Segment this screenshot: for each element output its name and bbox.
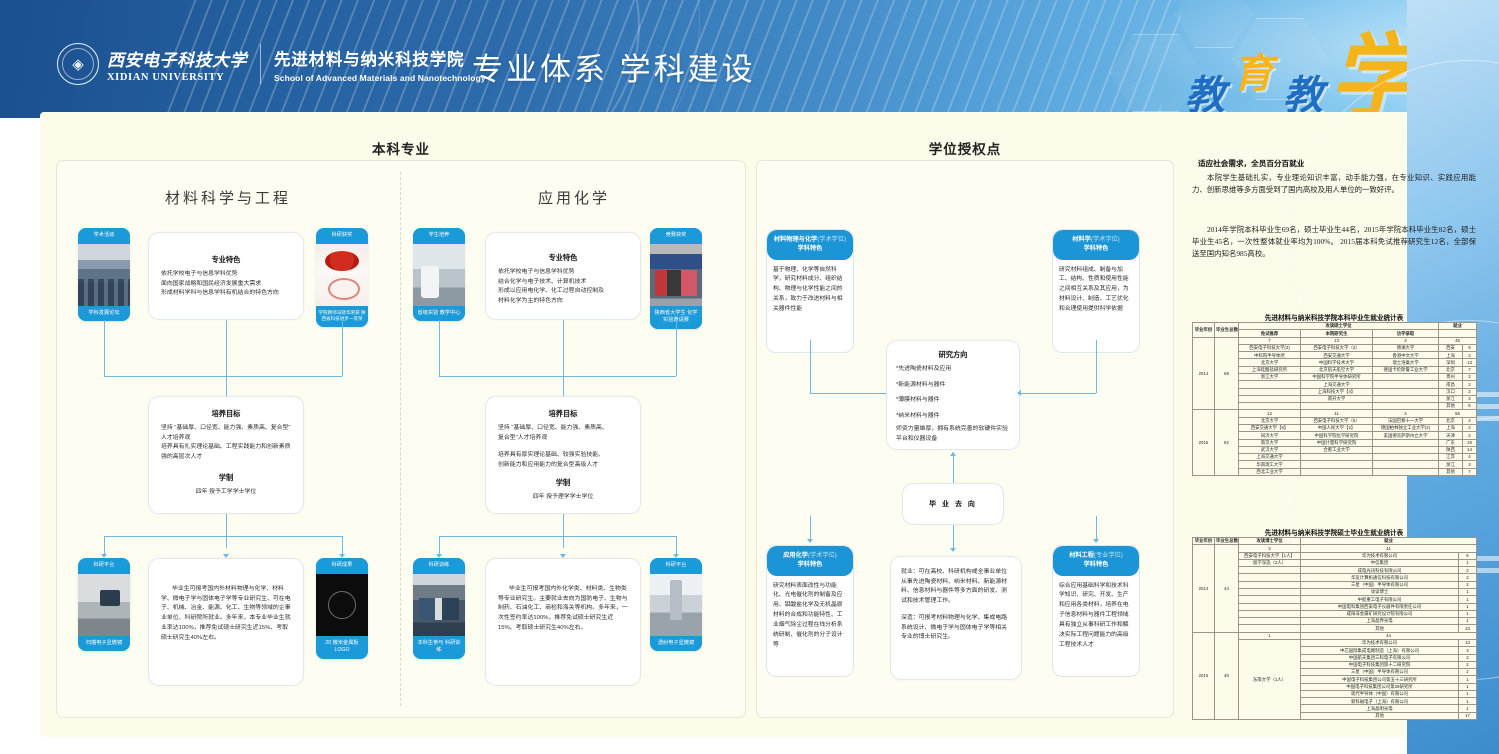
goal-line-2: 复合型"人才培养观 [498,434,628,444]
discipline-card-header: 材料工程(专业学位) 学科特色 [1053,546,1139,576]
cell-count: 55 [1439,410,1477,417]
connector-line [439,320,440,376]
cell: 2 [1463,381,1477,388]
cell: 中国电子科技集团公司第五十三研究所 [1301,676,1459,683]
cell-count: 3 [1239,545,1301,552]
feature-line-2: 面向国家战略和国民经济发展重大需求 [161,280,291,290]
cell: 中国电子科技集团公司第28研究所 [1301,683,1459,690]
sidebar-paragraph-1: 本院学生基础扎实，专业理论知识丰富，动手能力强，在专业知识、实践应用能力、创新思… [1192,172,1476,196]
cell: 新科磁电子（上海）有限公司 [1301,698,1459,705]
brand-lockup: ◈ 西安电子科技大学 XIDIAN UNIVERSITY 先进材料与纳米科技学院… [57,43,486,85]
destination-para-1: 就业：可在高校、科研机构或全事业单位从事先进陶瓷材料、纳米材料、新能源材料、信息… [901,568,1011,607]
cell: 2 [1459,574,1477,581]
cell [1239,567,1301,574]
cell: 2 [1459,654,1477,661]
goal-box-materials-science: 培养目标 坚持 "基础厚、口径宽、能力强、素质高、复合型" 人才培养观 培养具有… [148,396,304,514]
photo-card-bottom-label: 学科发展论坛 [78,306,130,322]
system-heading: 学制 [161,473,291,483]
cell: 其他 [1439,468,1463,475]
goal-line-2: 人才培养观 [161,434,291,444]
cell-count: 7 [1239,337,1301,344]
cell-count: 44 [1301,632,1477,639]
cell: 7 [1463,366,1477,373]
discipline-card-body: 综合应用基础科学和技术科学知识、研究、开发、生产和应用各类材料，培养在电子信息材… [1053,576,1139,676]
cell: 香港中文大学 [1373,352,1439,359]
discipline-card-body: 基于物理、化学等自然科学，研究材料成分、组织结构、物理与化学性能之间的关系，致力… [767,260,853,352]
cell: 深圳 [1439,359,1463,366]
photo-image-training [413,574,465,636]
connector-line [439,536,440,556]
table-row: 201469713445 [1193,337,1477,344]
cell: 上海硅酸盐研究所 [1239,366,1301,373]
discipline-title-sub: (专业学位) [1094,552,1123,559]
cell [1239,596,1301,603]
cell: 上海晶明光电 [1301,705,1459,712]
cell: 1 [1459,690,1477,697]
cell: 4 [1463,454,1477,461]
photo-card-top-label: 科研成果 [316,558,368,574]
discipline-card-materials-engineering[interactable]: 材料工程(专业学位) 学科特色 综合应用基础科学和技术科学知识、研究、开发、生产… [1052,545,1140,677]
cell [1239,381,1301,388]
connector-arrow-up [950,452,956,456]
th-sub: 免试推荐 [1239,330,1301,337]
cell [1239,625,1301,632]
feature-box-materials-science: 专业特色 依托学校电子与信息学科优势 面向国家战略和国民经济发展重大需求 形成材… [148,232,304,320]
cell [1373,373,1439,380]
cell-total: 44 [1215,545,1239,632]
cell: 广东 [1439,439,1463,446]
discipline-card-material-physics-chemistry[interactable]: 材料物理与化学(学术学位) 学科特色 基于物理、化学等自然科学，研究材料成分、组… [766,229,854,353]
university-seal-icon: ◈ [57,43,99,85]
graduate-destination-heading: 毕 业 去 向 [929,499,977,509]
cell: 13 [1459,639,1477,646]
research-item-1: *先进陶瓷材料及应用 [896,365,1010,375]
cell: 西安交通大学 [1301,352,1373,359]
master-employment-table: 毕业年份毕业生总数攻读博士学位就业201444341西安电子科技大学【1人】华为… [1192,537,1477,720]
cell-count: 11 [1301,410,1373,417]
cell-doctorate: 东南大学（1人） [1239,639,1301,719]
cell: 1 [1459,683,1477,690]
photo-card-bottom-label: 本科生参与 科研训练 [413,636,465,659]
cell-year: 2015 [1193,632,1215,719]
poster-root: ◈ 西安电子科技大学 XIDIAN UNIVERSITY 先进材料与纳米科技学院… [0,0,1499,754]
connector-line [342,320,343,376]
cell: 上海 [1439,352,1463,359]
cell: 上海交通大学 [1239,454,1301,461]
cell: 2 [1463,432,1477,439]
university-name-cn: 西安电子科技大学 [107,46,247,71]
discipline-title-main: 材料学 [1072,236,1091,243]
photo-card-top-label: 科研训练 [413,558,465,574]
th-sub: 访学录取 [1373,330,1439,337]
goal-line-3 [498,443,628,451]
discipline-title-line2: 学科特色 [771,244,849,253]
cell-total: 69 [1215,337,1239,410]
discipline-card-header: 材料物理与化学(学术学位) 学科特色 [767,230,853,260]
goal-heading: 培养目标 [498,409,628,419]
feature-box-applied-chemistry: 专业特色 依托学校电子与信息学科优势 结合化学与电子技术、计算机技术 形成以应用… [485,232,641,320]
goal-heading: 培养目标 [161,409,291,419]
connector-line [563,514,564,548]
cell: 3 [1459,647,1477,654]
discipline-title-sub: (学术学位) [808,552,837,559]
discipline-card-body: 研究材料表面改性与功能化、光电催化剂的制备及应用、钼酸盐化学及无机晶原材料的合成… [767,576,853,676]
discipline-title-line2: 学科特色 [1057,560,1135,569]
th-employment: 就业 [1439,323,1477,330]
photo-card-academic-activity[interactable]: 学术活动 学科发展论坛 [78,228,130,321]
employment-text: 毕业生可报考国内外化学类、材料类、生物类等专业研究生。主要就业去向为国防电子、生… [498,585,628,634]
cell: 2 [1463,388,1477,395]
page-header: ◈ 西安电子科技大学 XIDIAN UNIVERSITY 先进材料与纳米科技学院… [0,0,1499,118]
university-name-block: 西安电子科技大学 XIDIAN UNIVERSITY [107,46,247,83]
feature-line-1: 依托学校电子与信息学科优势 [161,270,291,280]
cell [1373,403,1439,410]
cell [1301,454,1373,461]
cell: 14 [1463,446,1477,453]
photo-card-top-label: 学术活动 [78,228,130,244]
connector-line [104,376,226,377]
cell: 天津 [1439,432,1463,439]
photo-card-top-label: 科研获奖 [316,228,368,244]
cell: 浙江 [1439,461,1463,468]
th-year: 毕业年份 [1193,538,1215,545]
cell: 19 [1463,439,1477,446]
feature-line-2: 结合化学与电子技术、计算机技术 [498,278,628,288]
cell-count: 4 [1373,410,1439,417]
connector-line [953,452,954,483]
cell: 17 [1459,712,1477,719]
cell: 同济大学 [1239,432,1301,439]
cell: 北京 [1439,417,1463,424]
cell [1373,468,1439,475]
cell: 西安交通大学【6】 [1239,424,1301,431]
discipline-title-sub: (学术学位) [817,236,846,243]
cell: 中船重工电子有限公司 [1301,596,1459,603]
cell: 上海晶界光电 [1301,618,1459,625]
art-char-2: 育 [1233,54,1273,94]
photo-image-certificate [316,244,368,306]
goal-line-1: 坚持 "基础厚、口径宽、能力强、素质高、复合型" [161,424,291,434]
table-row: 2015821211455 [1193,410,1477,417]
cell [1301,468,1373,475]
cell [1239,395,1301,402]
sidebar-heading: 适应社会需求，全员百分百就业 [1198,158,1304,169]
cell: 中国航天集团三科电子有限公司 [1301,654,1459,661]
goal-line-1: 坚持 "基础厚、口径宽、能力强、素质高、 [498,424,628,434]
master-table-title-wrap: 先进材料与纳米科技学院硕士毕业生就业统计表 [1192,527,1476,537]
cell-year: 2015 [1193,410,1215,476]
research-heading: 研究方向 [896,350,1010,360]
cell: 华友计算机通信科技有限公司 [1301,574,1459,581]
th-total: 毕业生总数 [1215,538,1239,545]
cell: 北京航天航空大学 [1301,366,1373,373]
connector-line [563,320,564,398]
feature-line-4: 材料化学为主的特色方向 [498,297,628,307]
cell: 华为技术有限公司 [1301,552,1459,559]
connector-line [439,376,563,377]
cell: 武汉大学 [1239,446,1301,453]
discipline-card-applied-chemistry[interactable]: 应用化学(学术学位) 学科特色 研究材料表面改性与功能化、光电催化剂的制备及应用… [766,545,854,677]
graduate-destination-box: 毕 业 去 向 [902,483,1004,525]
cell: 3 [1463,395,1477,402]
cell: 中国人民大学【2】 [1301,424,1373,431]
connector-line [676,536,677,556]
system-heading: 学制 [498,478,628,488]
photo-card-top-label: 科研平台 [78,558,130,574]
sidebar-paragraph-2: 2014年学院本科毕业生69名，硕士毕业生44名，2015年学院本科毕业生82名… [1192,224,1476,261]
cell: 2 [1463,424,1477,431]
th-total: 毕业生总数 [1215,323,1239,338]
cell: 9 [1463,344,1477,351]
photo-card-research-platform[interactable]: 科研平台 扫描电子显微镜 [78,558,130,651]
cell [1239,603,1301,610]
cell-total: 45 [1215,632,1239,719]
cell: 2 [1459,669,1477,676]
research-note: 师资力量雄厚，拥有系统完善的软硬件实验平台和仪器设备 [896,425,1010,444]
cell: 江苏 [1439,454,1463,461]
discipline-title-main: 材料工程 [1069,552,1094,559]
cell: 合肥工业大学 [1301,446,1373,453]
connector-line [1020,393,1096,394]
cell: 北京大学 [1239,417,1301,424]
cell: 贵州 [1439,373,1463,380]
school-name-en: School of Advanced Materials and Nanotec… [274,73,486,83]
cell: 上海交通大学 [1301,381,1373,388]
table-row: 201545144 [1193,632,1477,639]
cell-count: 1 [1239,632,1301,639]
cell [1373,381,1439,388]
discipline-title-line2: 学科特色 [771,560,849,569]
goal-line-4: 强的高层次人才 [161,453,291,463]
cell: 现代半导体（中国）有限公司 [1301,690,1459,697]
cell-count: 4 [1373,337,1439,344]
connector-line [226,514,227,548]
cell: 其他 [1439,403,1463,410]
cell: 4 [1463,417,1477,424]
cell: 中信集团 [1301,559,1459,566]
goal-line-3: 培养具有扎实理论基础、工程实践能力和创新素质 [161,443,291,453]
university-name-en: XIDIAN UNIVERSITY [107,72,247,83]
cell: 西安电子科技大学（6） [1301,417,1373,424]
cell: 1 [1459,610,1477,617]
photo-image-sem [78,574,130,636]
cell: 中国科学院化学研究院 [1301,432,1373,439]
connector-arrow-down [1093,539,1099,543]
cell: 中科院半导体所 [1239,352,1301,359]
cell [1301,461,1373,468]
cell: 3 [1463,461,1477,468]
discipline-card-body: 研究材料组成、制备与加工、结构、性质和使用性能之间相互关系及其应用，为材料设计、… [1053,260,1139,352]
employment-text: 毕业生可报考国内外材料物理与化学、材料学、微电子学与固体电子学等专业研究生、可在… [161,585,291,643]
photo-image-team [650,244,702,306]
cell: 2 [1459,581,1477,588]
connector-line [104,536,342,537]
cell: 13 [1463,359,1477,366]
cell: 上海 [1439,424,1463,431]
connector-line [226,320,227,398]
photo-card-research-result[interactable]: 科研成果 20 微米金属板 LOGO [316,558,368,659]
cell [1239,581,1301,588]
feature-line-1: 依托学校电子与信息学科优势 [498,268,628,278]
cell: 中国计量科学研究院 [1301,439,1373,446]
cell [1373,461,1439,468]
feature-line-3: 形成材料学科与信息学科有机结合的特色方向 [161,289,291,299]
photo-card-top-label: 科研平台 [650,558,702,574]
cell: 浙江大学 [1239,373,1301,380]
school-name-cn: 先进材料与纳米科技学院 [274,46,486,70]
photo-card-student-training[interactable]: 学生培养 省级实验 教学中心 [413,228,465,321]
bachelor-table-title: 先进材料与纳米科技学院本科毕业生就业统计表 [1192,312,1476,322]
research-directions-box: 研究方向 *先进陶瓷材料及应用 *新能源材料与器件 *薄膜材料与器件 *纳米材料… [886,340,1020,450]
photo-image-metal-logo [316,574,368,636]
cell: 三星（中国）半导体有限公司 [1301,581,1459,588]
connector-line [810,340,811,393]
cell: 中国电科集团西安电子仪器件有限责任公司 [1301,603,1459,610]
cell: 2 [1459,567,1477,574]
cell: 上海科技大学【4】 [1301,388,1373,395]
goal-line-5: 创新能力和应用能力的复合型高级人才 [498,461,628,471]
cell-total: 82 [1215,410,1239,476]
cell: 6 [1459,552,1477,559]
cell: 北京 [1439,366,1463,373]
cell: 西北工业大学 [1239,468,1301,475]
cell: 攻读博士 [1301,588,1459,595]
photo-card-competition-award[interactable]: 竞赛获奖 陕西省大学生 化学实验邀请赛 [650,228,702,329]
cell: 北京大学 [1239,359,1301,366]
photo-card-research-training[interactable]: 科研训练 本科生参与 科研训练 [413,558,465,659]
cell: 华南理工大学 [1239,461,1301,468]
photo-image-forum [78,244,130,306]
employment-box-materials-science: 毕业生可报考国内外材料物理与化学、材料学、微电子学与固体电子学等专业研究生、可在… [148,558,304,686]
table-header-row: 毕业年份毕业生总数攻读博士学位就业 [1193,538,1477,545]
th-year: 毕业年份 [1193,323,1215,338]
connector-line [226,376,342,377]
table-header-row: 毕业年份毕业生总数攻读硕士学位就业 [1193,323,1477,330]
employment-box-applied-chemistry: 毕业生可报考国内外化学类、材料类、生物类等专业研究生。主要就业去向为国防电子、生… [485,558,641,686]
cell [1239,610,1301,617]
discipline-card-header: 材料学(学术学位) 学科特色 [1053,230,1139,260]
cell: 1 [1459,705,1477,712]
destination-detail-box: 就业：可在高校、科研机构或全事业单位从事先进陶瓷材料、纳米材料、新能源材料、信息… [890,556,1022,680]
major-title-materials-science: 材料科学与工程 [56,187,400,208]
cell-year: 2014 [1193,545,1215,632]
connector-line [810,393,886,394]
cell: 西安电子科技大学（3） [1301,344,1373,351]
section-title-degree-programs: 学位授权点 [756,138,1174,158]
school-name-block: 先进材料与纳米科技学院 School of Advanced Materials… [274,46,486,83]
cell-count: 12 [1239,410,1301,417]
cell: 西安 [1439,344,1463,351]
feature-line-3: 形成以应用电化学、化工过程自动控制及 [498,287,628,297]
connector-arrow-left [1017,390,1021,396]
destination-para-2: 深造：可报考材料物理与化学、集成电路系统设计、微电子学与固体电子学等相关专业的博… [901,614,1011,643]
column-divider [400,172,401,706]
goal-line-4: 培养具有厚实理论基础、较强实验技能、 [498,451,628,461]
photo-card-bottom-label: 省级实验 教学中心 [413,306,465,322]
discipline-title-line2: 学科特色 [1057,244,1135,253]
discipline-title-sub: (学术学位) [1091,236,1120,243]
discipline-title-main: 应用化学 [783,552,808,559]
cell: 中芯国际集成电路制造（上海）有限公司 [1301,647,1459,654]
cell: 7 [1463,468,1477,475]
cell: 其他 [1301,712,1459,719]
cell: 1 [1459,676,1477,683]
feature-heading: 专业特色 [498,253,628,263]
cell: 陕西 [1439,446,1463,453]
goal-box-applied-chemistry: 培养目标 坚持 "基础厚、口径宽、能力强、素质高、 复合型"人才培养观 培养具有… [485,396,641,514]
major-title-applied-chemistry: 应用化学 [402,187,746,208]
cell: 三星（中国）半导体有限公司 [1301,669,1459,676]
cell-count: 41 [1301,545,1477,552]
cell: 南昌 [1439,381,1463,388]
cell: 留学深造（2人） [1239,559,1301,566]
photo-card-bottom-label: 扫描电子显微镜 [78,636,130,652]
cell [1373,388,1439,395]
connector-arrow-down [807,539,813,543]
connector-line [676,320,677,376]
photo-card-research-award[interactable]: 科研获奖 学院教师马晓华荣获 陕西省科技进步一等奖 [316,228,368,327]
cell [1373,395,1439,402]
connector-line [104,320,105,376]
photo-card-research-platform-tem[interactable]: 科研平台 透射电子显微镜 [650,558,702,651]
cell: 1 [1459,698,1477,705]
cell: 2 [1463,373,1477,380]
cell: 西安电子科技大学【1人】 [1239,552,1301,559]
cell: 中国科学技术大学 [1301,359,1373,366]
system-text: 四年 授予工学学士学位 [161,488,291,498]
cell: 1 [1459,559,1477,566]
cell: 德国卡伦斯鲁工业大学 [1373,366,1439,373]
cell: 1 [1459,596,1477,603]
cell: 美国德克萨斯州立大学 [1373,432,1439,439]
cell: 1 [1459,603,1477,610]
cell [1239,403,1301,410]
discipline-card-header: 应用化学(学术学位) 学科特色 [767,546,853,576]
cell: 南开大学 [1301,395,1373,402]
cell: 1 [1459,588,1477,595]
header-divider [260,44,261,84]
photo-image-lab [413,244,465,306]
feature-heading: 专业特色 [161,255,291,265]
th-masters: 攻读硕士学位 [1239,323,1439,330]
cell: 2 [1463,352,1477,359]
system-text: 四年 授予理学学士学位 [498,493,628,503]
cell: 华为技术有限公司 [1301,639,1459,646]
cell: 咸阳非金属矿研究设计院有限公司 [1301,610,1459,617]
connector-line [439,536,676,537]
cell [1239,618,1301,625]
master-table-title: 先进材料与纳米科技学院硕士毕业生就业统计表 [1192,527,1476,537]
cell: 2 [1459,661,1477,668]
art-char-1: 教 [1185,76,1225,116]
cell: 德国柏林独立工业大学(2) [1373,424,1439,431]
cell: 法国巴黎十一大学 [1373,417,1439,424]
discipline-card-materials-science[interactable]: 材料学(学术学位) 学科特色 研究材料组成、制备与加工、结构、性质和使用性能之间… [1052,229,1140,353]
art-char-3: 教 [1283,76,1323,116]
cell: 中国科学院半导体研究所 [1301,373,1373,380]
cell [1373,446,1439,453]
cell [1239,588,1301,595]
research-item-2: *新能源材料与器件 [896,381,1010,391]
connector-line [1096,340,1097,393]
cell: 浙江 [1439,395,1463,402]
cell [1373,454,1439,461]
table-row: 201444341 [1193,545,1477,552]
connector-line [563,376,676,377]
cell: 5 [1463,403,1477,410]
th-sub: 本院研究生 [1301,330,1373,337]
cell [1373,439,1439,446]
